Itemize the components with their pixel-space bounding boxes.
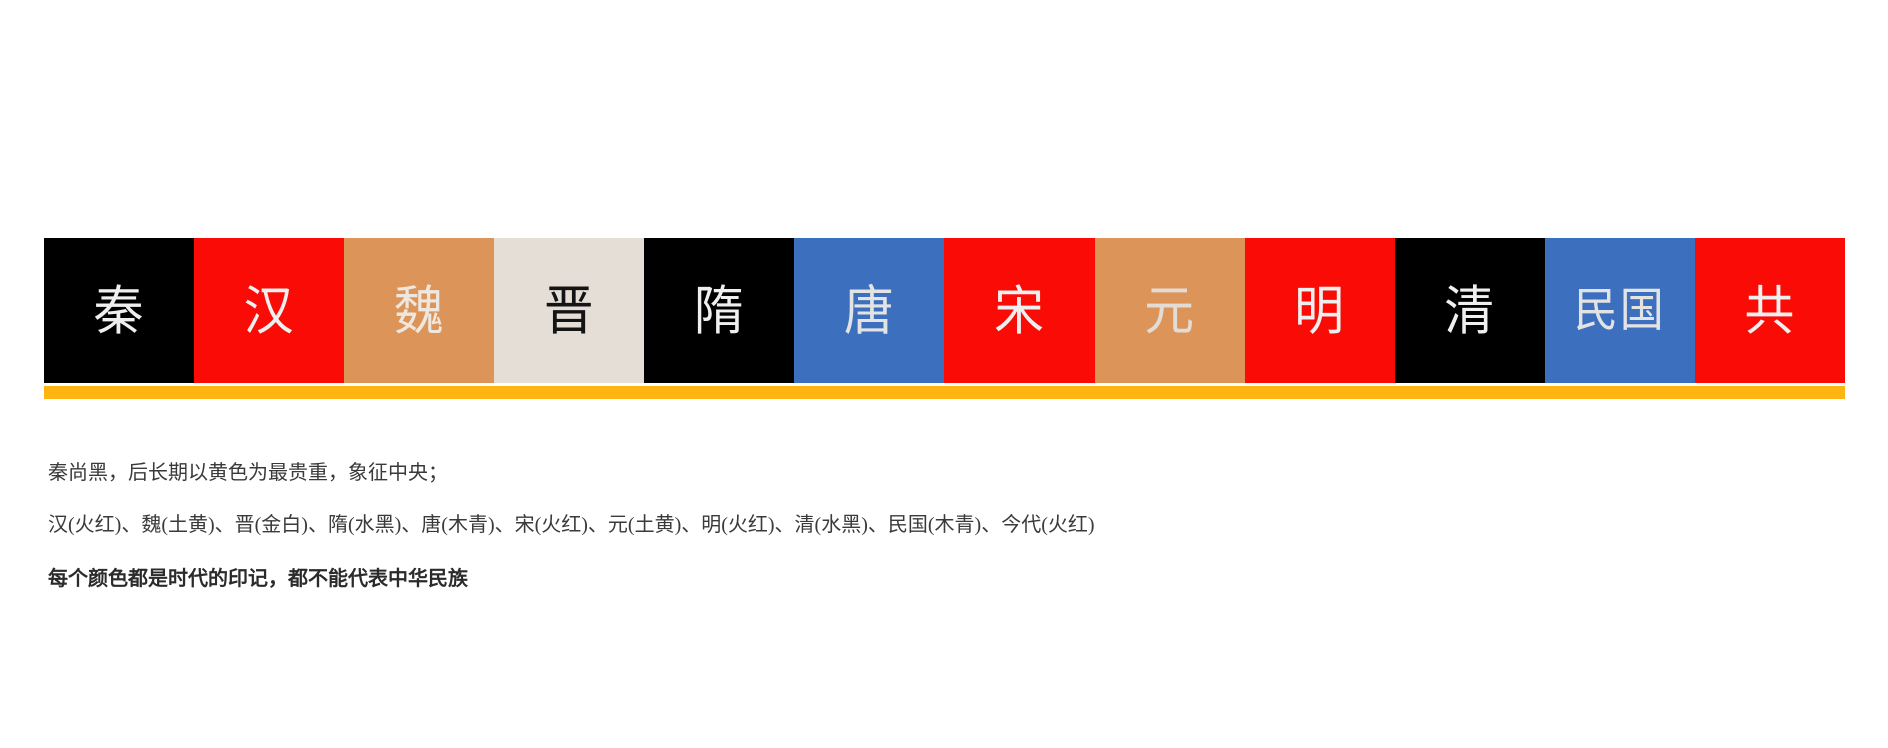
dynasty-block-jin: 晋 [494,238,644,383]
dynasty-label-sui: 隋 [694,284,745,337]
caption-line-1: 秦尚黑，后长期以黄色为最贵重，象征中央； [48,460,1348,487]
dynasty-block-yuan: 元 [1095,238,1245,383]
dynasty-block-wei: 魏 [344,238,494,383]
dynasty-block-han: 汉 [194,238,344,383]
gold-underline-bar [44,386,1845,399]
dynasty-label-wei: 魏 [394,284,445,337]
dynasty-block-qing: 清 [1395,238,1545,383]
dynasty-label-jin: 晋 [544,284,595,337]
dynasty-block-gong: 共 [1695,238,1845,383]
dynasty-block-ming: 明 [1245,238,1395,383]
dynasty-label-han: 汉 [244,284,295,337]
dynasty-label-qing: 清 [1444,284,1495,337]
dynasty-label-gong: 共 [1744,284,1795,337]
dynasty-block-sui: 隋 [644,238,794,383]
caption-line-3: 每个颜色都是时代的印记，都不能代表中华民族 [48,566,1348,593]
dynasty-block-minguo: 民国 [1545,238,1695,383]
dynasty-label-minguo: 民国 [1574,287,1666,334]
dynasty-block-tang: 唐 [794,238,944,383]
dynasty-label-qin: 秦 [94,284,145,337]
caption-line-2: 汉(火红)、魏(土黄)、晋(金白)、隋(水黑)、唐(木青)、宋(火红)、元(土黄… [48,512,1348,539]
dynasty-block-qin: 秦 [44,238,194,383]
caption-block: 秦尚黑，后长期以黄色为最贵重，象征中央； 汉(火红)、魏(土黄)、晋(金白)、隋… [48,460,1348,593]
dynasty-label-song: 宋 [994,284,1045,337]
dynasty-block-song: 宋 [944,238,1094,383]
dynasty-label-yuan: 元 [1144,284,1195,337]
dynasty-label-tang: 唐 [844,284,895,337]
dynasty-label-ming: 明 [1294,284,1345,337]
dynasty-color-strip: 秦汉魏晋隋唐宋元明清民国共 [44,238,1845,383]
